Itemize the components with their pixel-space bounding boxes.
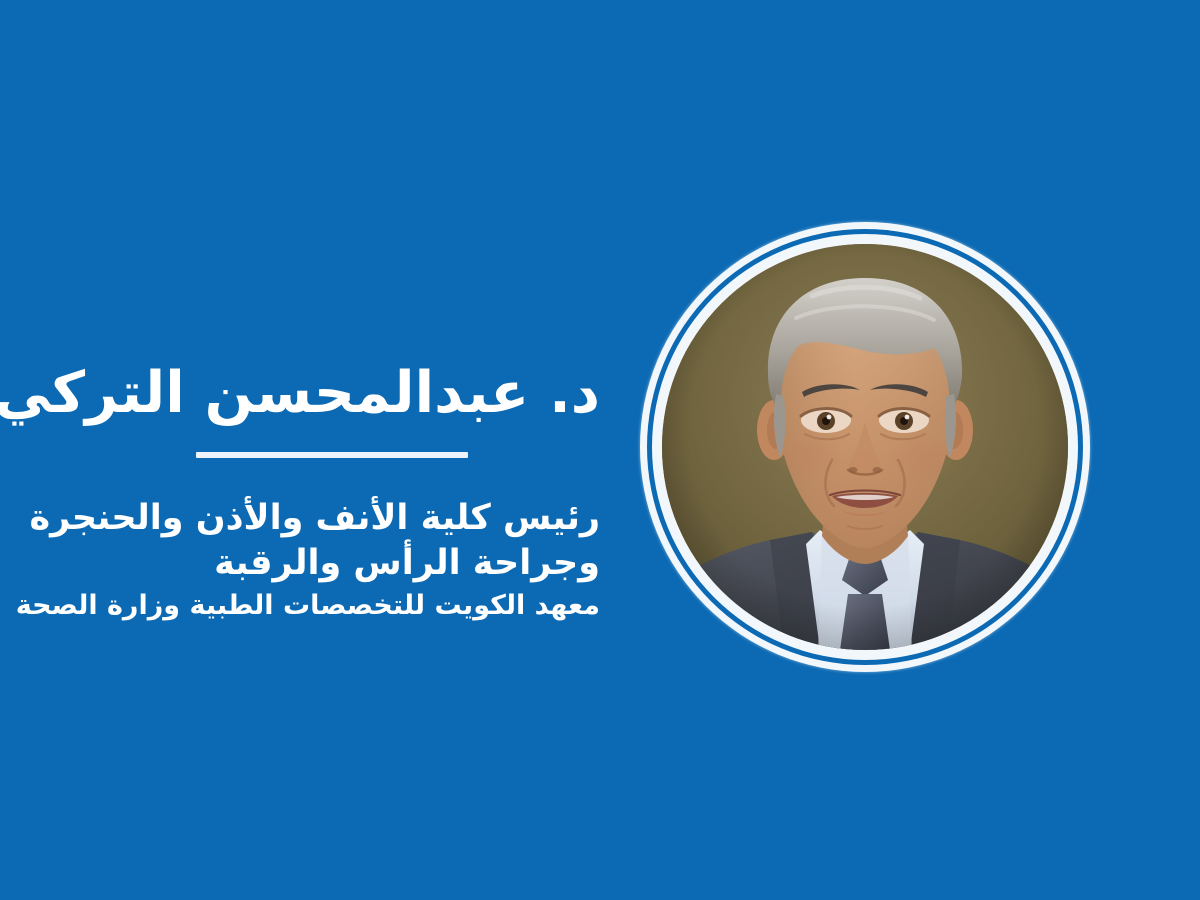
speaker-title-group: رئيس كلية الأنف والأذن والحنجرة وجراحة ا… <box>0 458 616 626</box>
divider-wrap <box>0 426 616 458</box>
speaker-card: د. عبدالمحسن التركي رئيس كلية الأنف والأ… <box>0 0 1200 900</box>
speaker-title-line-3: معهد الكويت للتخصصات الطبية وزارة الصحة <box>0 586 600 627</box>
portrait-photo-frame <box>662 244 1068 650</box>
speaker-text-block: د. عبدالمحسن التركي رئيس كلية الأنف والأ… <box>0 360 616 626</box>
speaker-title-line-2: وجراحة الرأس والرقبة <box>0 541 600 586</box>
portrait-photo <box>662 244 1068 650</box>
speaker-title-line-1: رئيس كلية الأنف والأذن والحنجرة <box>0 496 600 541</box>
portrait-medallion <box>640 222 1090 672</box>
divider-rule <box>196 452 468 458</box>
speaker-name: د. عبدالمحسن التركي <box>0 360 616 426</box>
